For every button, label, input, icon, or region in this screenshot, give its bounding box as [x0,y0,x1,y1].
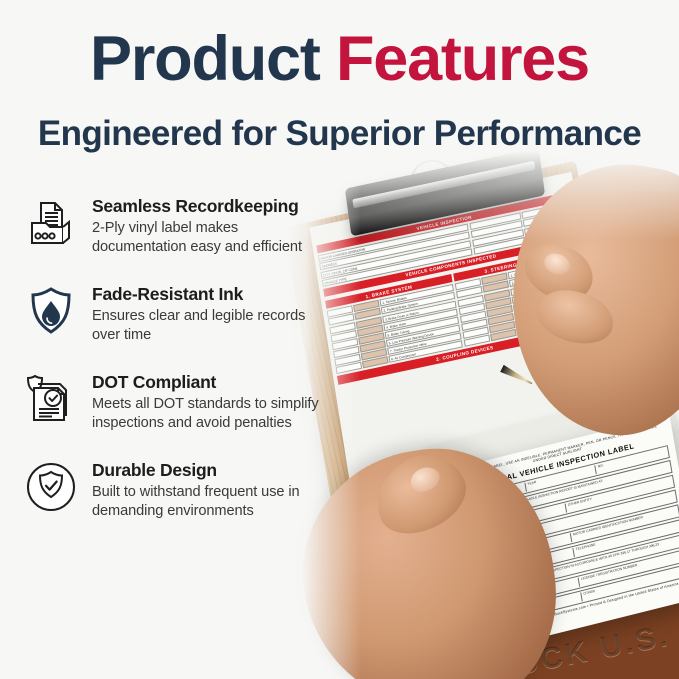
document-check-shield-icon [22,370,80,428]
feature-title: Seamless Recordkeeping [92,196,332,217]
document-file-box-icon [22,194,80,252]
title-word-features: Features [336,24,589,94]
shield-ink-drop-icon [22,282,80,340]
feature-description: Ensures clear and legible records over t… [92,307,332,345]
feature-item-dot-compliant: DOT Compliant Meets all DOT standards to… [22,368,342,433]
clip-metal-bar [352,161,535,209]
product-photo: BUCK U.S. ANNUAL VEHICLE INSPECTION REPO… [286,150,679,679]
feature-list: Seamless Recordkeeping 2-Ply vinyl label… [22,192,342,544]
feature-item-fade-resistant-ink: Fade-Resistant Ink Ensures clear and leg… [22,280,342,345]
feature-title: Fade-Resistant Ink [92,284,332,305]
feature-description: 2-Ply vinyl label makes documentation ea… [92,219,332,257]
feature-title: Durable Design [92,460,332,481]
product-features-infographic: Product Features Engineered for Superior… [0,0,679,679]
page-subtitle: Engineered for Superior Performance [0,114,679,154]
feature-title: DOT Compliant [92,372,332,393]
feature-description: Built to withstand frequent use in deman… [92,483,332,521]
feature-item-seamless-recordkeeping: Seamless Recordkeeping 2-Ply vinyl label… [22,192,342,257]
feature-item-durable-design: Durable Design Built to withstand freque… [22,456,342,521]
title-word-product: Product [90,24,320,94]
page-title: Product Features [0,26,679,92]
feature-description: Meets all DOT standards to simplify insp… [92,395,332,433]
shield-check-circle-icon [22,458,80,516]
